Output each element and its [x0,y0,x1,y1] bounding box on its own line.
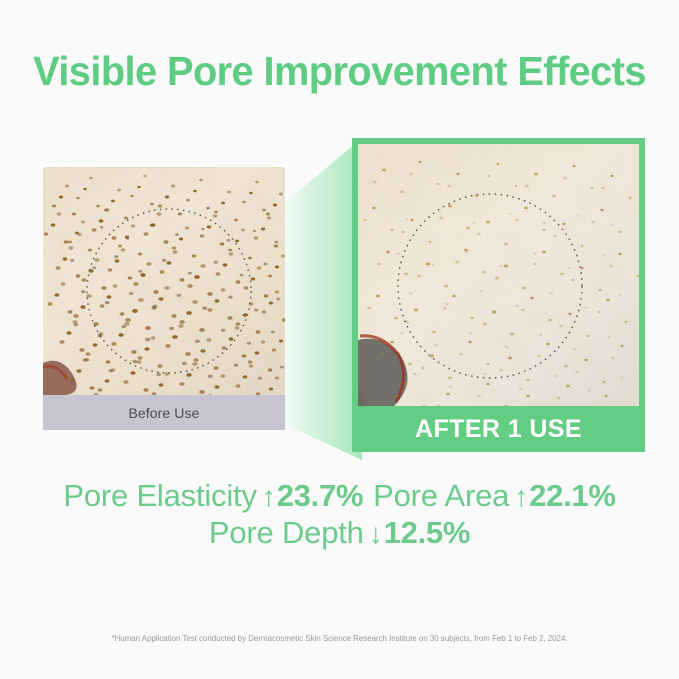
before-panel: Before Use [43,167,285,430]
stat-label-pore-depth: Pore Depth [209,515,364,550]
before-skin-image [43,167,285,395]
stat-value-pore-depth: 12.5% [384,515,470,550]
after-skin-image [358,144,639,406]
after-caption: AFTER 1 USE [352,406,645,452]
perspective-connector [276,138,362,460]
stat-row-1: Pore Elasticity↑23.7%Pore Area↑22.1% [0,478,679,515]
footnote: *Human Application Test conducted by Der… [0,634,679,643]
after-panel: AFTER 1 USE [352,138,645,452]
stats-block: Pore Elasticity↑23.7%Pore Area↑22.1% Por… [0,478,679,551]
stat-label-pore-area: Pore Area [373,478,509,513]
before-after-comparison: Before Use [0,130,679,460]
before-caption: Before Use [43,395,285,430]
arrow-up-icon: ↑ [509,481,529,512]
stat-value-pore-elasticity: 23.7% [277,478,373,513]
arrow-down-icon: ↓ [364,518,384,549]
arrow-up-icon: ↑ [257,481,277,512]
page-title: Visible Pore Improvement Effects [10,48,669,95]
stat-row-2: Pore Depth↓12.5% [0,515,679,552]
stat-label-pore-elasticity: Pore Elasticity [63,478,256,513]
stat-value-pore-area: 22.1% [529,478,615,513]
